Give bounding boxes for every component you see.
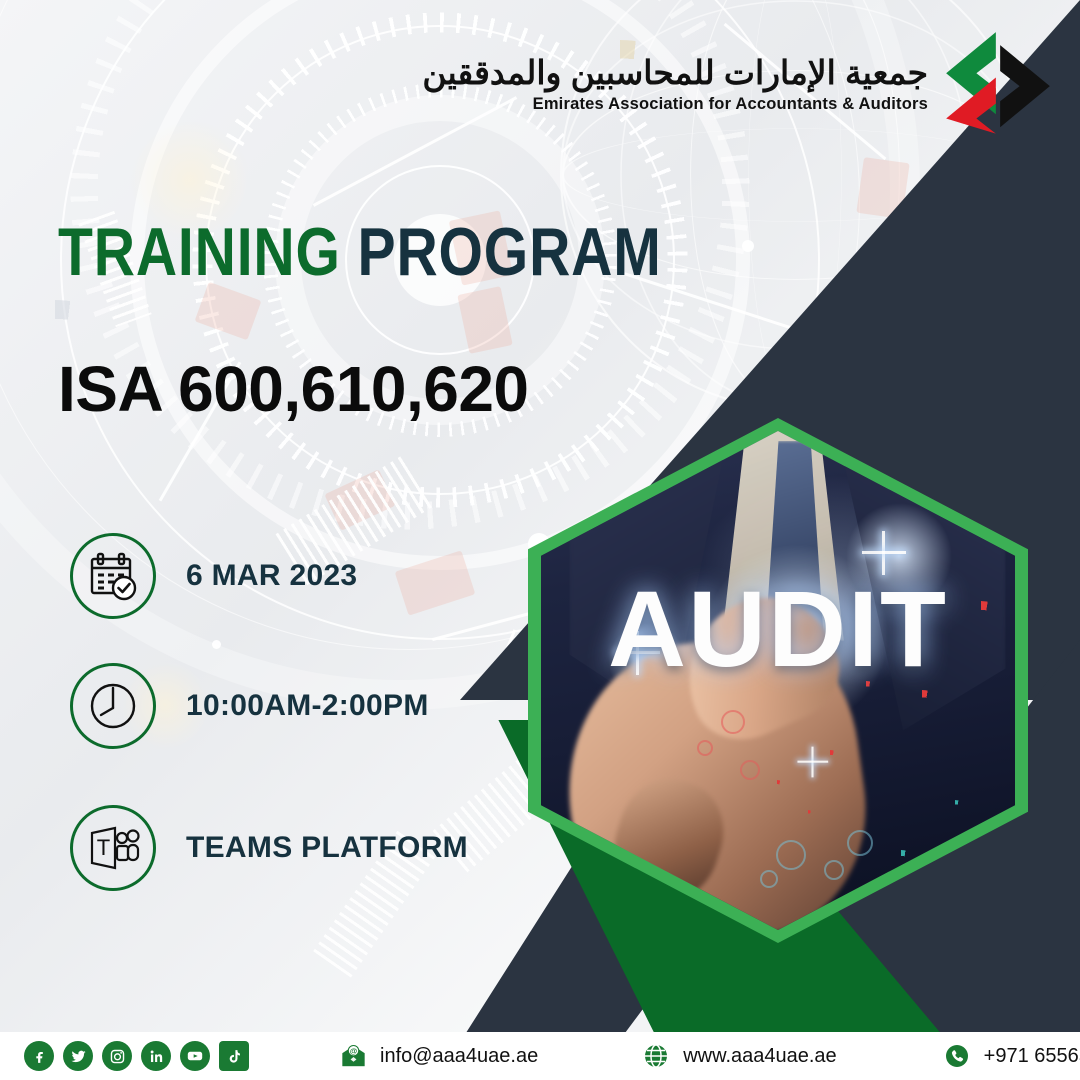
chip-4	[324, 469, 395, 531]
footer-phone-text: +971 65565555	[984, 1045, 1080, 1068]
svg-text:@: @	[349, 1046, 357, 1055]
calendar-check-icon	[70, 533, 156, 619]
phone-icon	[943, 1042, 971, 1070]
poster-canvas: جمعية الإمارات للمحاسبين والمدققين Emira…	[0, 0, 1080, 1080]
dot-3	[212, 640, 221, 649]
footer-bar: @ info@aaa4uae.ae www.aaa4uae.ae	[0, 1032, 1080, 1080]
envelope-at-icon: @	[339, 1042, 367, 1070]
brand-logo: جمعية الإمارات للمحاسبين والمدققين Emira…	[422, 30, 1052, 138]
brand-name-english: Emirates Association for Accountants & A…	[422, 95, 928, 114]
chevron-logo-icon	[944, 30, 1052, 138]
page-title: TRAINING PROGRAM	[58, 218, 662, 286]
clock-icon	[70, 663, 156, 749]
gear-icon	[933, 800, 977, 844]
title-word-program: PROGRAM	[358, 214, 662, 290]
chip-3	[195, 282, 262, 341]
svg-text:T: T	[97, 835, 110, 860]
hero-word: AUDIT	[541, 566, 1015, 691]
gear-icon	[806, 750, 854, 798]
info-row-time: 10:00AM-2:00PM	[70, 663, 429, 749]
chip-2	[457, 286, 513, 354]
chip-6	[395, 550, 476, 615]
course-code: ISA 600,610,620	[58, 352, 529, 426]
brand-name-arabic: جمعية الإمارات للمحاسبين والمدققين	[422, 54, 928, 92]
hero-image: AUDIT	[541, 431, 1015, 930]
gear-icon	[757, 780, 797, 820]
info-label-date: 6 MAR 2023	[186, 559, 357, 593]
dot-2	[742, 240, 754, 252]
globe-icon	[642, 1042, 670, 1070]
info-row-platform: T TEAMS PLATFORM	[70, 805, 468, 891]
title-word-training: TRAINING	[58, 214, 341, 290]
social-links	[0, 1041, 249, 1071]
tiktok-icon[interactable]	[219, 1041, 249, 1071]
footer-website[interactable]: www.aaa4uae.ae	[642, 1042, 836, 1070]
linkedin-icon[interactable]	[141, 1041, 171, 1071]
info-row-date: 6 MAR 2023	[70, 533, 357, 619]
brand-logo-text: جمعية الإمارات للمحاسبين والمدققين Emira…	[422, 54, 928, 115]
facebook-icon[interactable]	[24, 1041, 54, 1071]
footer-email-text: info@aaa4uae.ae	[380, 1045, 538, 1068]
youtube-icon[interactable]	[180, 1041, 210, 1071]
footer-website-text: www.aaa4uae.ae	[683, 1045, 836, 1068]
info-label-platform: TEAMS PLATFORM	[186, 831, 468, 865]
footer-email[interactable]: @ info@aaa4uae.ae	[339, 1042, 538, 1070]
teams-icon: T	[70, 805, 156, 891]
instagram-icon[interactable]	[102, 1041, 132, 1071]
footer-phone[interactable]: +971 65565555	[943, 1042, 1080, 1070]
twitter-icon[interactable]	[63, 1041, 93, 1071]
info-label-time: 10:00AM-2:00PM	[186, 689, 429, 723]
gear-icon	[886, 690, 958, 762]
